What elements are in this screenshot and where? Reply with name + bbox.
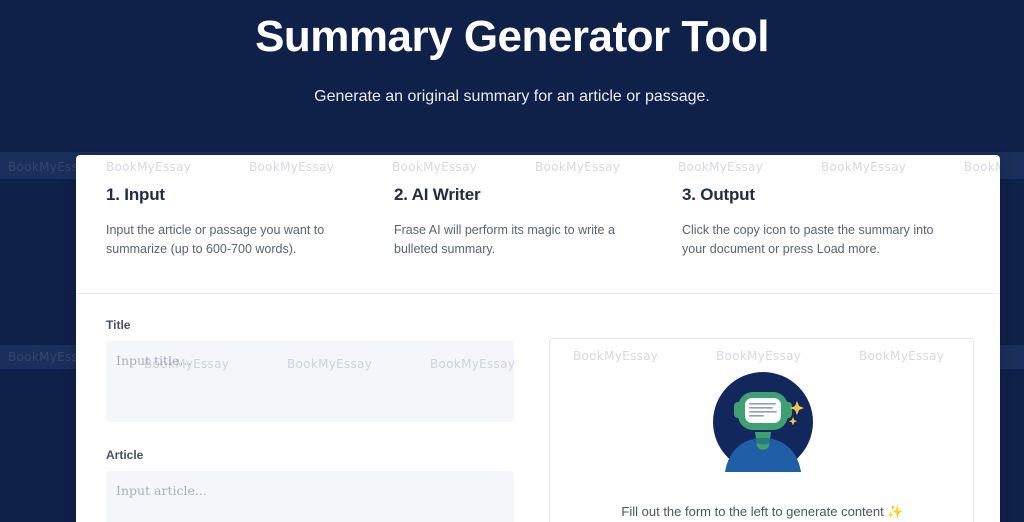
sparkles-icon: ✨ [887, 504, 903, 519]
watermark: BookMyEssay [573, 349, 658, 363]
title-input[interactable]: Input title... BookMyEssay BookMyEssay B… [106, 341, 514, 422]
step-title: 2. AI Writer [394, 185, 654, 205]
watermark-row-output-panel: BookMyEssay BookMyEssay BookMyEssay [550, 349, 974, 369]
step-title: 1. Input [106, 185, 366, 205]
ai-robot-illustration [550, 372, 974, 472]
page-background: Summary Generator Tool Generate an origi… [0, 0, 1024, 522]
card-divider [76, 293, 1000, 294]
step-description: Frase AI will perform its magic to write… [394, 221, 654, 259]
output-caption-text: Fill out the form to the left to generat… [621, 504, 883, 519]
tool-card: BookMyEssay BookMyEssay BookMyEssay Book… [76, 155, 1000, 522]
step-description: Input the article or passage you want to… [106, 221, 366, 259]
step-input: 1. Input Input the article or passage yo… [106, 185, 394, 293]
input-form: Title Input title... BookMyEssay BookMyE… [106, 318, 518, 522]
page-title: Summary Generator Tool [0, 8, 1024, 66]
ai-robot-avatar-icon [713, 372, 813, 472]
instruction-steps: 1. Input Input the article or passage yo… [76, 155, 1000, 293]
step-ai-writer: 2. AI Writer Frase AI will perform its m… [394, 185, 682, 293]
watermark: BookMyEssay [716, 349, 801, 363]
step-output: 3. Output Click the copy icon to paste t… [682, 185, 970, 293]
watermark: BookMyEssay [287, 357, 372, 371]
article-input[interactable]: Input article... [106, 471, 514, 522]
watermark: BookMyEssay [859, 349, 944, 363]
step-title: 3. Output [682, 185, 942, 205]
title-field-label: Title [106, 318, 518, 332]
step-description: Click the copy icon to paste the summary… [682, 221, 942, 259]
article-input-placeholder: Input article... [116, 483, 207, 498]
title-input-placeholder: Input title... [116, 353, 191, 368]
page-subtitle: Generate an original summary for an arti… [0, 84, 1024, 110]
output-panel: BookMyEssay BookMyEssay BookMyEssay [549, 338, 974, 522]
watermark: BookMyEssay [430, 357, 514, 371]
output-placeholder-caption: Fill out the form to the left to generat… [550, 504, 974, 520]
article-field-label: Article [106, 448, 518, 462]
